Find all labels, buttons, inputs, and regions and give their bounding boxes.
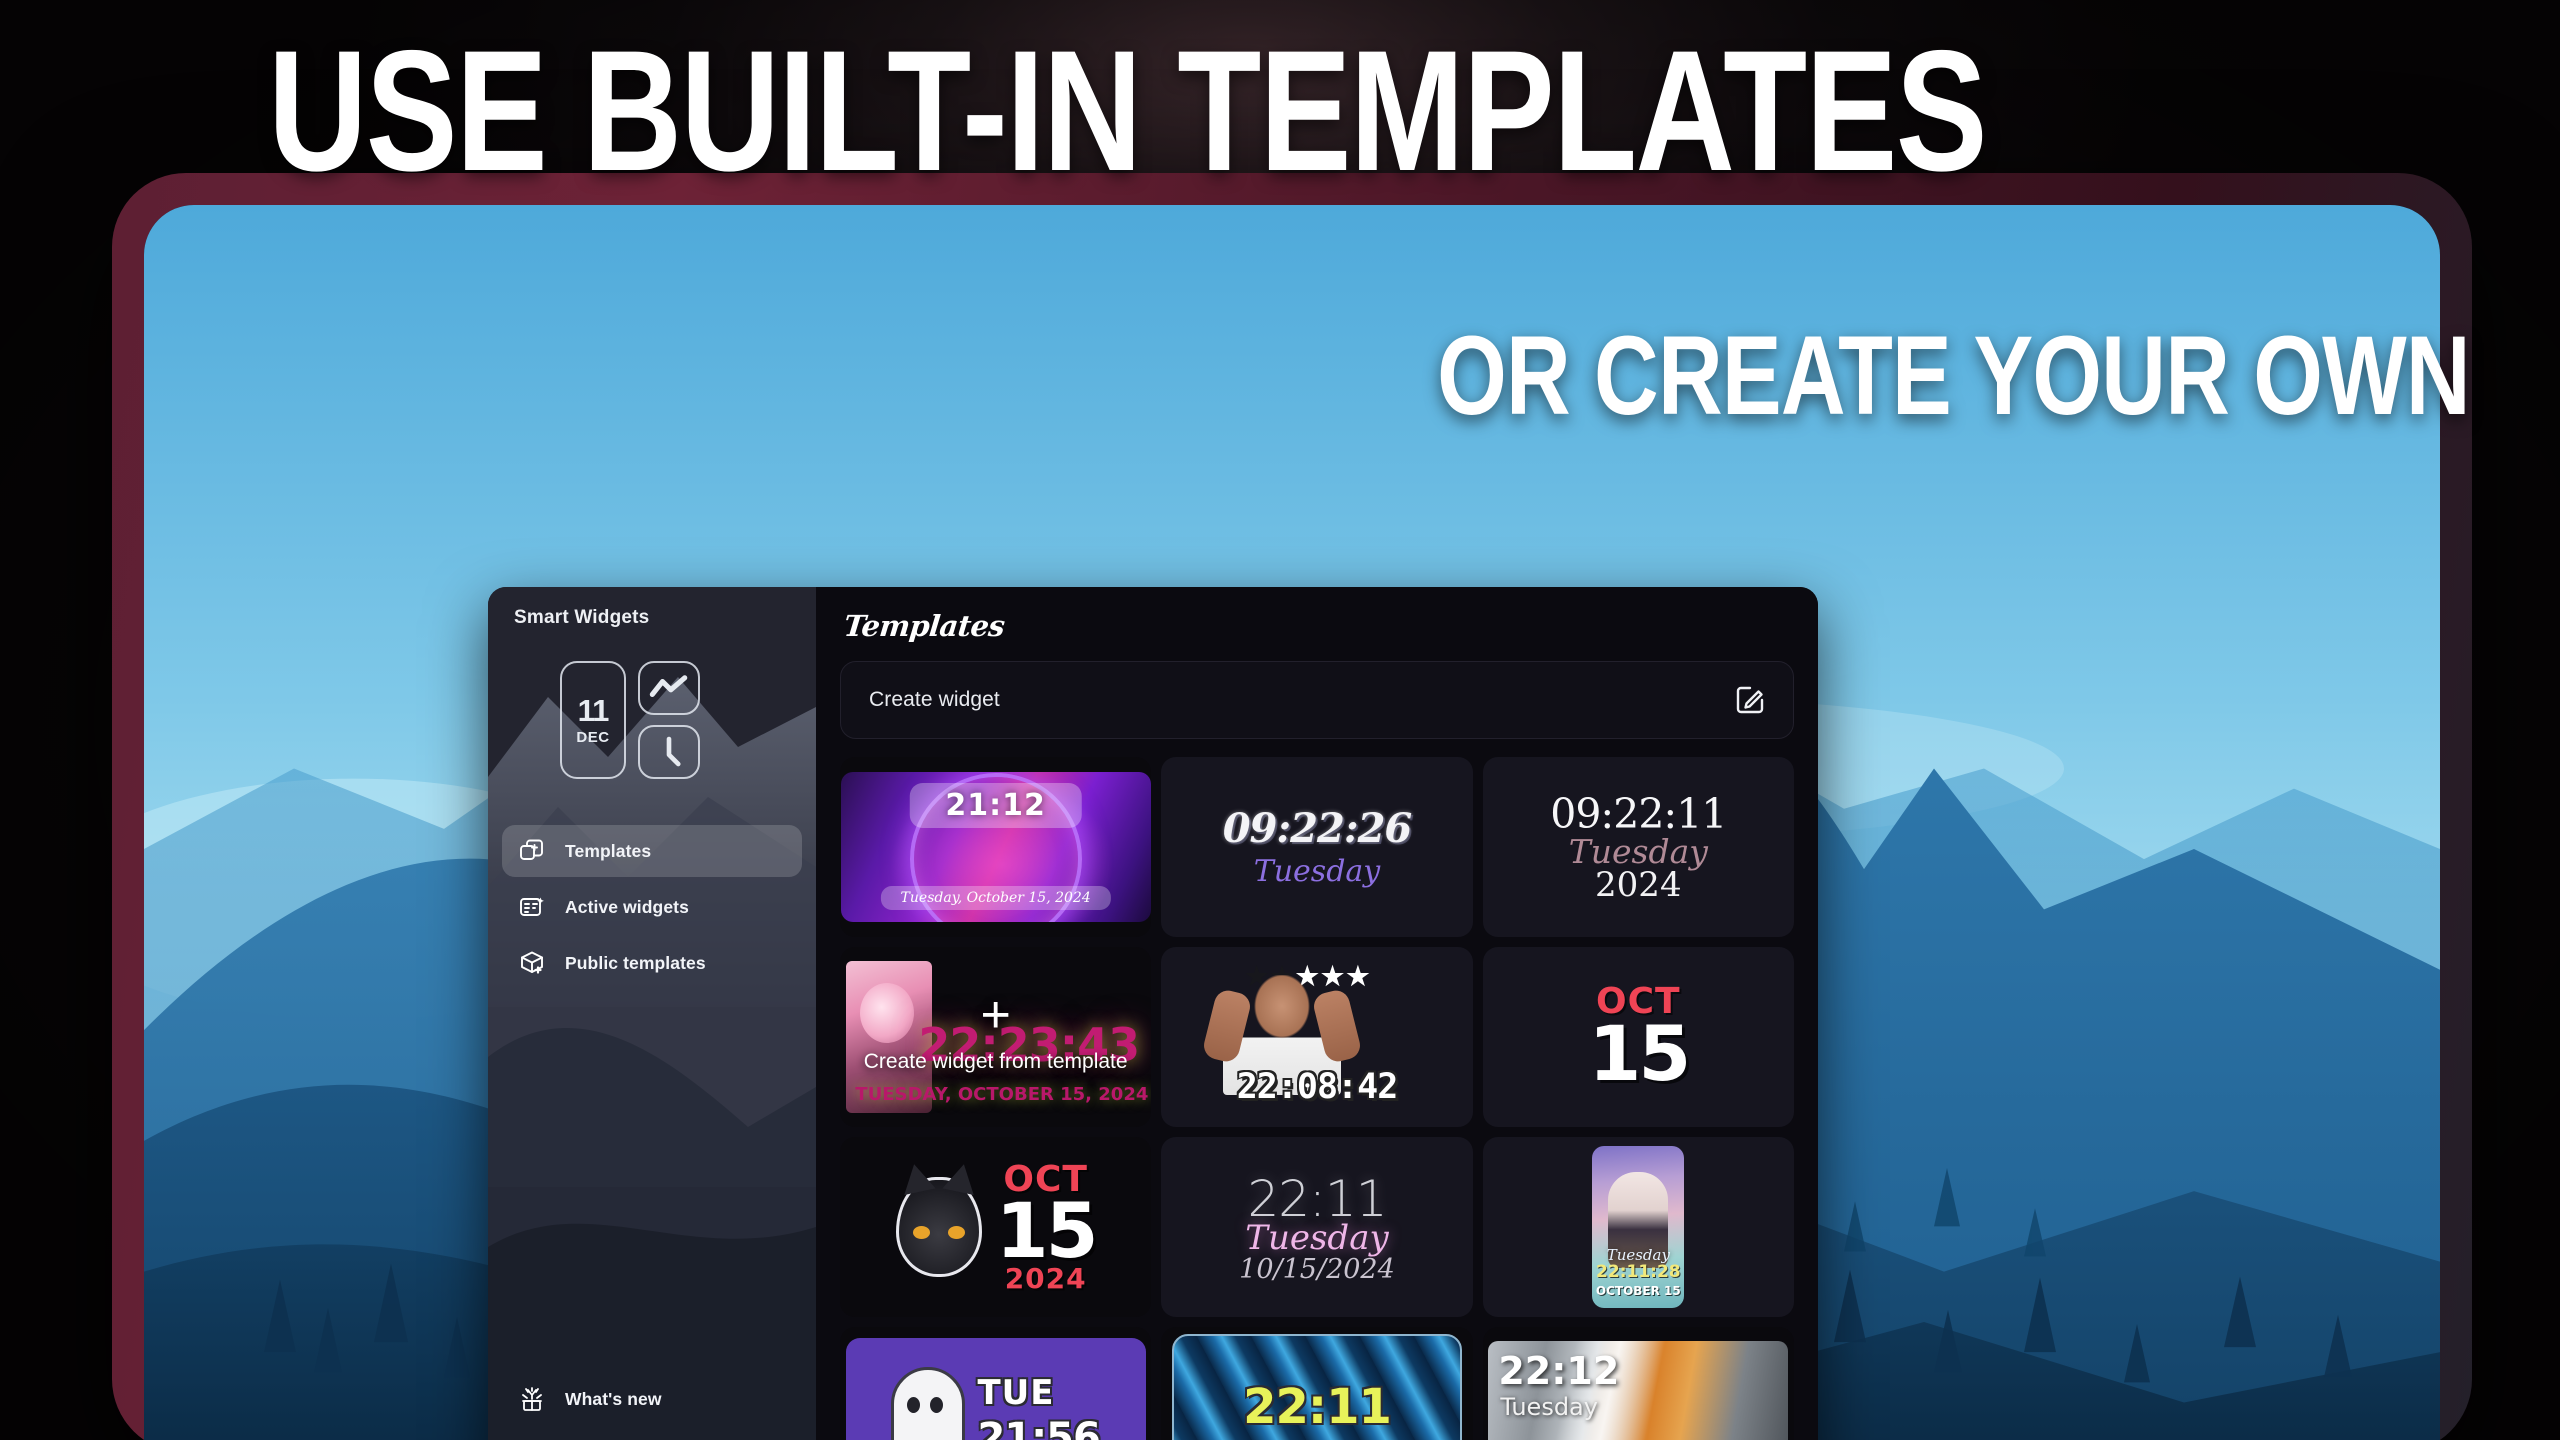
plus-icon: + bbox=[980, 1000, 1010, 1031]
sidebar-item-label: What's new bbox=[565, 1389, 662, 1410]
template-card-hovered[interactable]: 22:23:43 TUESDAY, OCTOBER 15, 2024 + Cre… bbox=[840, 947, 1151, 1127]
template-card[interactable]: 09:22:26 Tuesday bbox=[1161, 757, 1472, 937]
card11-time: 22:11 bbox=[1243, 1379, 1391, 1435]
template-thumb-neon-tuesday: 22:11 Tuesday 10/15/2024 bbox=[1239, 1170, 1395, 1285]
template-thumb-cat-oct: OCT 15 2024 bbox=[896, 1163, 1096, 1292]
preview-month: DEC bbox=[576, 729, 609, 746]
template-thumb-serif-year: 09:22:11 Tuesday 2024 bbox=[1550, 790, 1726, 905]
template-thumb-street-blur: 22:12 Tuesday October 15 bbox=[1488, 1341, 1788, 1440]
card7-day: 15 bbox=[996, 1196, 1096, 1266]
template-thumb-neon-ring: 21:12 Tuesday, October 15, 2024 bbox=[841, 772, 1151, 922]
package-add-icon bbox=[518, 949, 546, 977]
sidebar-primary-nav: Templates bbox=[488, 825, 816, 993]
create-widget-label: Create widget bbox=[869, 688, 1000, 712]
template-thumb-gta-ped: ★★★★★ 22:08:42 bbox=[1167, 957, 1467, 1117]
sidebar-app-title: Smart Widgets bbox=[488, 587, 816, 629]
wave-icon bbox=[638, 661, 700, 715]
template-thumb-ghost-purple: TUE 21:56 bbox=[846, 1338, 1146, 1440]
create-widget-bar[interactable]: Create widget bbox=[840, 661, 1794, 739]
sidebar-item-templates[interactable]: Templates bbox=[502, 825, 802, 877]
card3-time: 09:22:11 bbox=[1550, 790, 1726, 838]
template-card[interactable]: OCT 15 bbox=[1483, 947, 1794, 1127]
card12-day: Tuesday bbox=[1500, 1393, 1598, 1421]
app-main-panel: Templates Create widget bbox=[816, 587, 1818, 1440]
overlay-label: Create widget from template bbox=[864, 1050, 1128, 1074]
card10-time: 21:56 bbox=[977, 1418, 1099, 1440]
template-card[interactable]: 22:11 Tuesday 10/15/2024 bbox=[1161, 1327, 1472, 1440]
sidebar-item-active-widgets[interactable]: Active widgets bbox=[502, 881, 802, 933]
card10-day: TUE bbox=[977, 1376, 1099, 1410]
template-card[interactable]: OCT 15 2024 bbox=[840, 1137, 1151, 1317]
template-card[interactable]: 21:12 Tuesday, October 15, 2024 bbox=[840, 757, 1151, 937]
smart-widgets-app-window: Smart Widgets 11 DEC bbox=[488, 587, 1818, 1440]
widget-preview-illustration: 11 DEC bbox=[560, 661, 710, 781]
sidebar-item-whats-new[interactable]: What's new bbox=[502, 1373, 802, 1425]
template-thumb-blue-streak: 22:11 Tuesday 10/15/2024 bbox=[1172, 1334, 1462, 1440]
template-card[interactable]: 09:22:11 Tuesday 2024 bbox=[1483, 757, 1794, 937]
active-widgets-icon bbox=[518, 893, 546, 921]
card7-year: 2024 bbox=[1005, 1266, 1087, 1292]
templates-grid: 21:12 Tuesday, October 15, 2024 09:22:26… bbox=[840, 757, 1794, 1440]
gift-sparkle-icon bbox=[518, 1385, 546, 1413]
card2-day: Tuesday bbox=[1254, 854, 1381, 889]
card1-time: 21:12 bbox=[909, 783, 1082, 828]
template-card[interactable]: Tuesday 22:11:28 OCTOBER 15 bbox=[1483, 1137, 1794, 1317]
sidebar-item-label: Active widgets bbox=[565, 897, 689, 918]
card5-time: 22:08:42 bbox=[1237, 1067, 1398, 1107]
ghost-sticker-art bbox=[891, 1367, 965, 1440]
card12-time: 22:12 bbox=[1498, 1349, 1619, 1393]
card8-date: 10/15/2024 bbox=[1239, 1254, 1395, 1285]
edit-pencil-square-icon[interactable] bbox=[1733, 683, 1767, 717]
tablet-device: Smart Widgets 11 DEC bbox=[112, 173, 2472, 1440]
template-thumb-anime-portrait: Tuesday 22:11:28 OCTOBER 15 bbox=[1592, 1146, 1684, 1308]
card9-date: OCTOBER 15 bbox=[1592, 1284, 1684, 1298]
template-card[interactable]: 22:11 Tuesday 10/15/2024 bbox=[1161, 1137, 1472, 1317]
cat-sticker-art bbox=[896, 1177, 982, 1277]
card9-time: 22:11:28 bbox=[1592, 1262, 1684, 1282]
card8-day: Tuesday bbox=[1245, 1218, 1388, 1258]
templates-add-icon bbox=[518, 837, 546, 865]
template-card[interactable]: ★★★★★ 22:08:42 bbox=[1161, 947, 1472, 1127]
create-from-template-overlay[interactable]: + Create widget from template bbox=[840, 947, 1151, 1127]
app-sidebar: Smart Widgets 11 DEC bbox=[488, 587, 816, 1440]
card3-year: 2024 bbox=[1595, 865, 1682, 905]
template-thumb-oct-red: OCT 15 bbox=[1588, 985, 1688, 1088]
templates-brand-logo: Templates bbox=[842, 609, 1006, 643]
template-card[interactable]: TUE 21:56 bbox=[840, 1327, 1151, 1440]
preview-day: 11 bbox=[578, 695, 609, 726]
sidebar-item-public-templates[interactable]: Public templates bbox=[502, 937, 802, 989]
sidebar-secondary-nav: What's new Profile bbox=[488, 1373, 816, 1440]
tablet-screen: Smart Widgets 11 DEC bbox=[144, 205, 2440, 1440]
sidebar-item-label: Public templates bbox=[565, 953, 706, 974]
date-widget-outline: 11 DEC bbox=[560, 661, 626, 779]
card2-time: 09:22:26 bbox=[1223, 805, 1412, 852]
sidebar-item-label: Templates bbox=[565, 841, 651, 862]
clock-hand-icon bbox=[638, 725, 700, 779]
template-thumb-chrome-script: 09:22:26 Tuesday bbox=[1223, 805, 1412, 889]
card1-date: Tuesday, October 15, 2024 bbox=[881, 886, 1111, 910]
card6-day: 15 bbox=[1588, 1019, 1688, 1089]
template-card[interactable]: 22:12 Tuesday October 15 bbox=[1483, 1327, 1794, 1440]
screenshot-root: Smart Widgets 11 DEC bbox=[0, 0, 2560, 1440]
